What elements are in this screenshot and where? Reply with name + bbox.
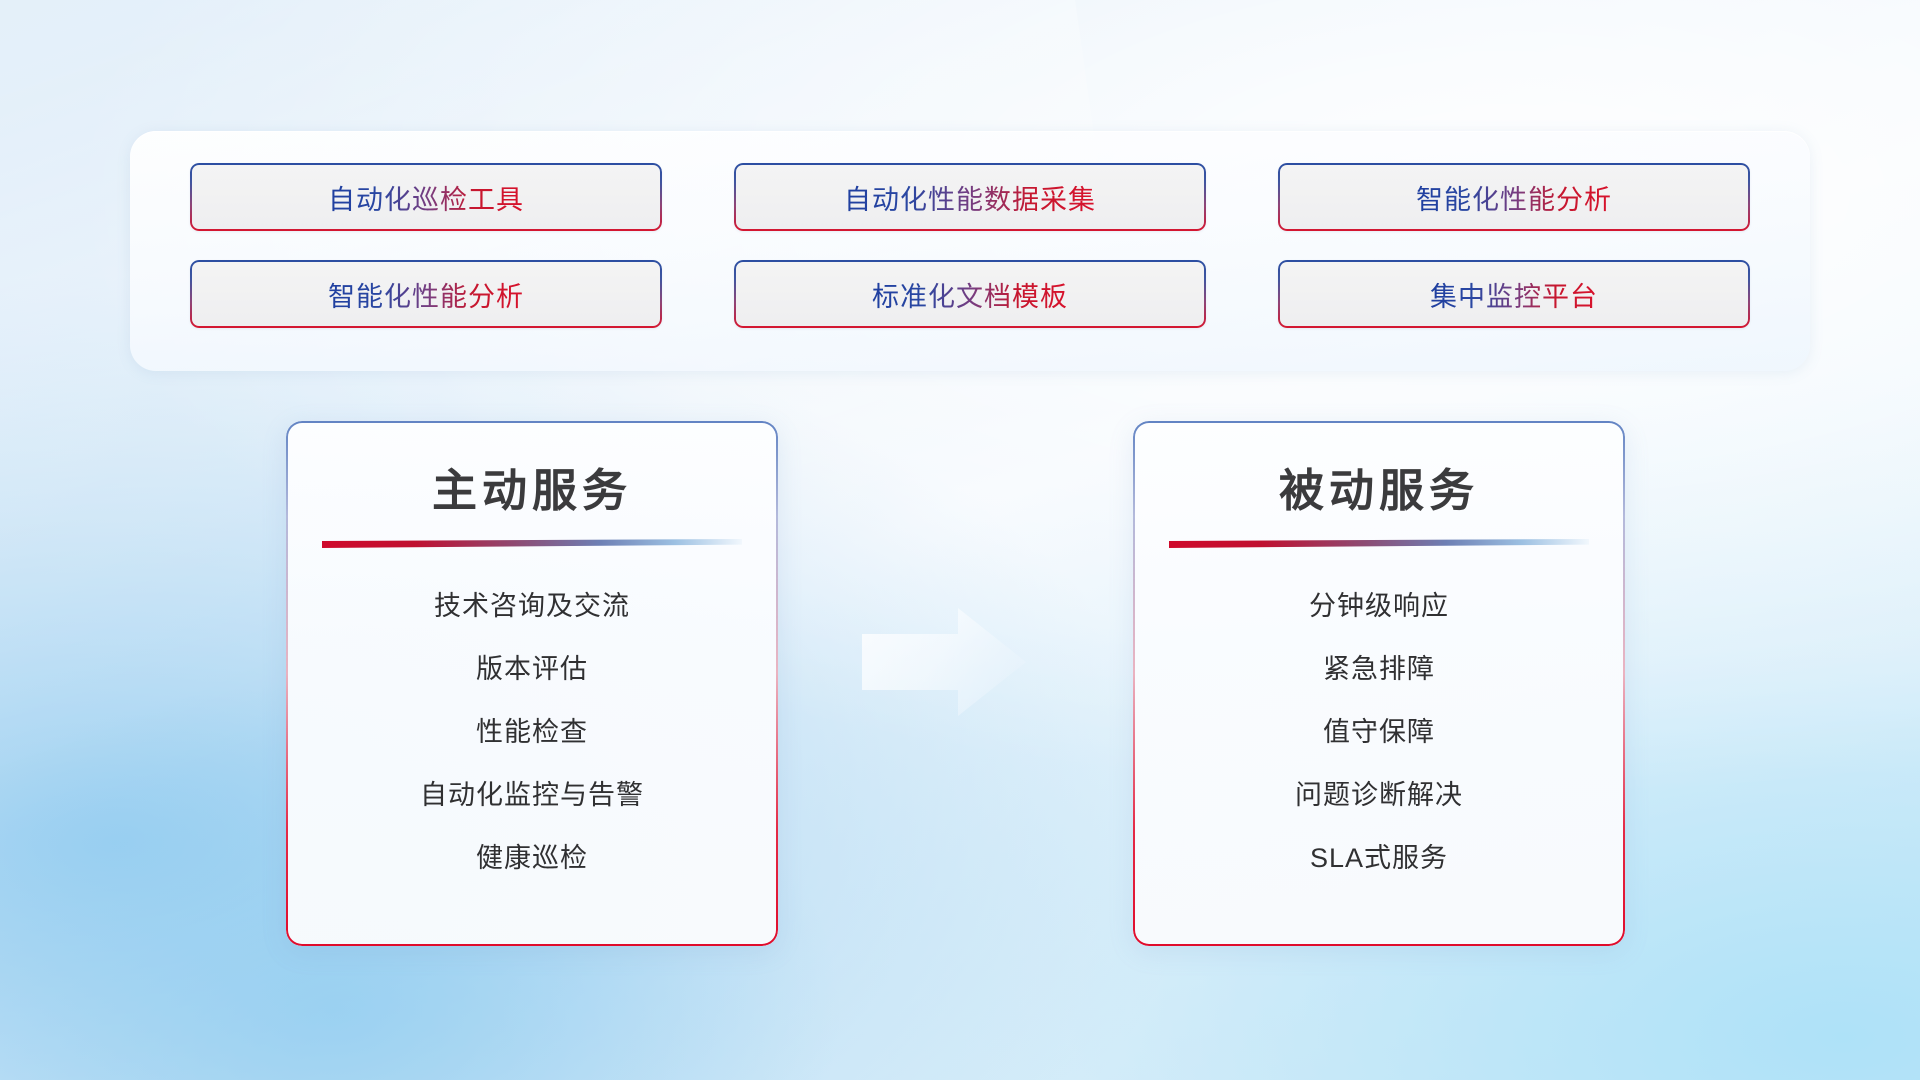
capability-tag-3[interactable]: 智能化性能分析 xyxy=(1278,163,1750,231)
service-card-passive: 被动服务 分钟级响应 紧急排障 值守保障 问题诊断解决 SLA式服务 xyxy=(1133,421,1625,946)
capability-tag-label: 标准化文档模板 xyxy=(872,275,1068,314)
capability-tag-label: 集中监控平台 xyxy=(1430,275,1598,314)
capability-tag-label: 智能化性能分析 xyxy=(1416,178,1612,217)
title-underline-decoration xyxy=(1169,539,1589,548)
capability-tag-label: 智能化性能分析 xyxy=(328,275,524,314)
slide-canvas: 自动化巡检工具 自动化性能数据采集 智能化性能分析 智能化性能分析 标准化文档模… xyxy=(0,0,1920,1080)
capability-tag-1[interactable]: 自动化巡检工具 xyxy=(190,163,662,231)
list-item: 值守保障 xyxy=(1323,710,1435,749)
card-title: 被动服务 xyxy=(1133,454,1625,519)
capability-tag-6[interactable]: 集中监控平台 xyxy=(1278,260,1750,328)
title-underline-decoration xyxy=(322,539,742,548)
capability-tag-label: 自动化性能数据采集 xyxy=(844,178,1096,217)
card-title: 主动服务 xyxy=(286,454,778,519)
list-item: 健康巡检 xyxy=(476,836,588,875)
capability-tag-5[interactable]: 标准化文档模板 xyxy=(734,260,1206,328)
service-card-active: 主动服务 技术咨询及交流 版本评估 性能检查 自动化监控与告警 健康巡检 xyxy=(286,421,778,946)
list-item: 问题诊断解决 xyxy=(1295,773,1463,812)
list-item: SLA式服务 xyxy=(1310,836,1448,875)
capability-panel: 自动化巡检工具 自动化性能数据采集 智能化性能分析 智能化性能分析 标准化文档模… xyxy=(130,131,1810,371)
list-item: 自动化监控与告警 xyxy=(420,773,644,812)
arrow-right-icon xyxy=(862,608,1026,716)
capability-tag-label: 自动化巡检工具 xyxy=(328,178,524,217)
list-item: 技术咨询及交流 xyxy=(434,584,630,623)
capability-tag-4[interactable]: 智能化性能分析 xyxy=(190,260,662,328)
service-item-list: 技术咨询及交流 版本评估 性能检查 自动化监控与告警 健康巡检 xyxy=(286,584,778,875)
service-item-list: 分钟级响应 紧急排障 值守保障 问题诊断解决 SLA式服务 xyxy=(1133,584,1625,875)
list-item: 分钟级响应 xyxy=(1309,584,1449,623)
capability-tag-2[interactable]: 自动化性能数据采集 xyxy=(734,163,1206,231)
list-item: 版本评估 xyxy=(476,647,588,686)
list-item: 性能检查 xyxy=(476,710,588,749)
list-item: 紧急排障 xyxy=(1323,647,1435,686)
